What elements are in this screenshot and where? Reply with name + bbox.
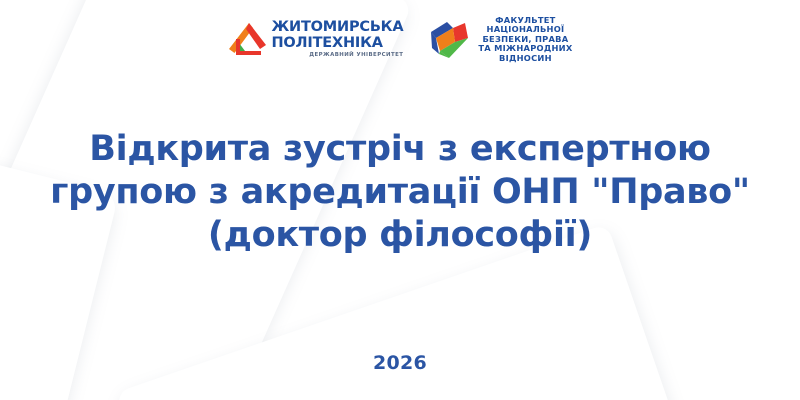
title-line-2: групою з акредитації ОНП "Право" [0,171,800,214]
university-subtitle: ДЕРЖАВНИЙ УНІВЕРСИТЕТ [271,53,403,58]
house-roof-icon [227,19,267,61]
university-name-line2: ПОЛІТЕХНІКА [271,36,403,51]
cube-icon [427,18,471,62]
slide-title: Відкрита зустріч з експертною групою з а… [0,128,800,257]
faculty-name-line5: ВІДНОСИН [499,54,552,63]
zhytomyr-polytechnic-wordmark: ЖИТОМИРСЬКА ПОЛІТЕХНІКА ДЕРЖАВНИЙ УНІВЕР… [271,20,403,58]
presentation-slide: ЖИТОМИРСЬКА ПОЛІТЕХНІКА ДЕРЖАВНИЙ УНІВЕР… [0,0,800,400]
university-name-line1: ЖИТОМИРСЬКА [271,20,403,35]
title-line-1: Відкрита зустріч з експертною [0,128,800,171]
faculty-wordmark: ФАКУЛЬТЕТ НАЦІОНАЛЬНОЇ БЕЗПЕКИ, ПРАВА ТА… [478,16,572,63]
slide-year: 2026 [0,352,800,374]
title-line-3: (доктор філософії) [0,214,800,257]
zhytomyr-polytechnic-logo: ЖИТОМИРСЬКА ПОЛІТЕХНІКА ДЕРЖАВНИЙ УНІВЕР… [227,19,403,61]
faculty-logo: ФАКУЛЬТЕТ НАЦІОНАЛЬНОЇ БЕЗПЕКИ, ПРАВА ТА… [427,16,572,63]
logo-bar: ЖИТОМИРСЬКА ПОЛІТЕХНІКА ДЕРЖАВНИЙ УНІВЕР… [0,16,800,63]
